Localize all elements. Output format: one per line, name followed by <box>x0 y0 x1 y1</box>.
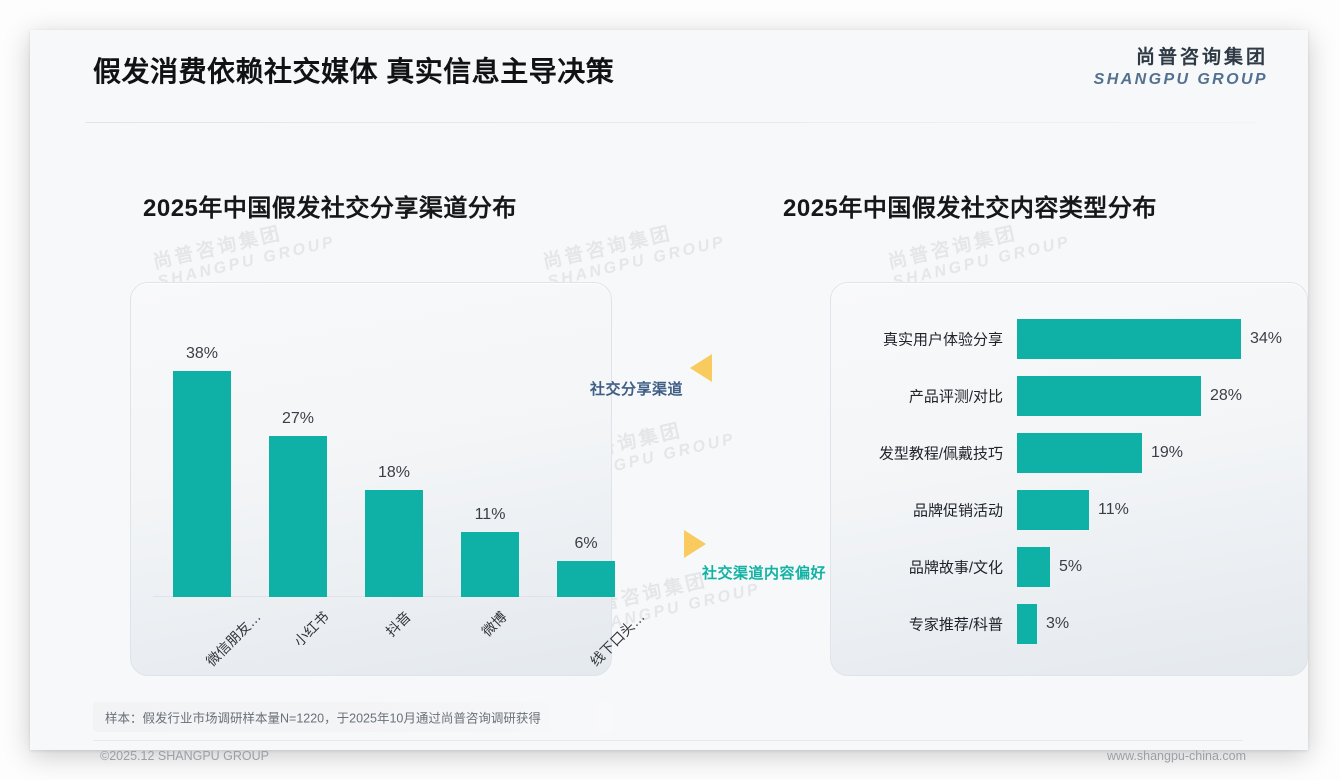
bar-value-label: 5% <box>1059 558 1082 576</box>
category-label: 抖音 <box>381 607 415 641</box>
bar[interactable] <box>1017 319 1241 359</box>
watermark: 尚普咨询集团 SHANGPU GROUP <box>540 207 728 292</box>
bar-value-label: 11% <box>475 506 506 524</box>
slide-root: 假发消费依赖社交媒体 真实信息主导决策 尚普咨询集团 SHANGPU GROUP… <box>0 0 1340 780</box>
bar[interactable] <box>557 561 615 597</box>
page-title: 假发消费依赖社交媒体 真实信息主导决策 <box>93 50 614 90</box>
left-chart-title: 2025年中国假发社交分享渠道分布 <box>143 188 517 223</box>
category-label-wrap: 抖音 <box>365 597 423 669</box>
bar-value-label: 27% <box>282 410 314 428</box>
category-label-wrap: 微博 <box>461 597 519 669</box>
category-label: 线下口头… <box>586 607 650 671</box>
bar[interactable] <box>1017 547 1050 587</box>
bar-value-label: 38% <box>186 345 218 363</box>
category-label-wrap: 微信朋友… <box>173 597 231 669</box>
bar-row: 产品评测/对比28% <box>831 376 1307 416</box>
category-label: 品牌促销活动 <box>913 500 1003 521</box>
footer-divider <box>93 740 1243 741</box>
bar-value-label: 11% <box>1098 501 1129 519</box>
bar-value-label: 28% <box>1210 387 1242 405</box>
right-chart-title: 2025年中国假发社交内容类型分布 <box>783 188 1157 223</box>
annotation-label: 社交分享渠道 <box>590 378 683 399</box>
triangle-right-icon <box>684 530 706 558</box>
brand-logo: 尚普咨询集团 SHANGPU GROUP <box>1094 46 1268 89</box>
bar-group: 27%小红书 <box>269 436 327 597</box>
category-label-wrap: 小红书 <box>269 597 327 669</box>
slide-header: 假发消费依赖社交媒体 真实信息主导决策 尚普咨询集团 SHANGPU GROUP <box>30 30 1308 122</box>
right-chart-card: 真实用户体验分享34%产品评测/对比28%发型教程/佩戴技巧19%品牌促销活动1… <box>830 282 1308 676</box>
bar[interactable] <box>365 490 423 597</box>
bar[interactable] <box>1017 490 1089 530</box>
bar-group: 11%微博 <box>461 532 519 597</box>
annotation-label: 社交渠道内容偏好 <box>702 562 826 583</box>
bar[interactable] <box>269 436 327 597</box>
bar-row: 品牌促销活动11% <box>831 490 1307 530</box>
horizontal-bar-chart: 真实用户体验分享34%产品评测/对比28%发型教程/佩戴技巧19%品牌促销活动1… <box>831 283 1307 675</box>
category-label: 微博 <box>477 607 511 641</box>
bar-value-label: 19% <box>1151 444 1183 462</box>
bar[interactable] <box>461 532 519 597</box>
watermark-cn-text: 尚普咨询集团 <box>540 207 724 274</box>
bar-group: 6%线下口头… <box>557 561 615 597</box>
category-label: 微信朋友… <box>202 607 266 671</box>
bar-value-label: 6% <box>574 535 597 553</box>
category-label: 品牌故事/文化 <box>909 557 1003 578</box>
category-label: 产品评测/对比 <box>909 386 1003 407</box>
footer-website[interactable]: www.shangpu-china.com <box>1107 749 1246 763</box>
bar-row: 真实用户体验分享34% <box>831 319 1307 359</box>
bar-row: 专家推荐/科普3% <box>831 604 1307 644</box>
bar[interactable] <box>1017 604 1037 644</box>
footer-copyright: ©2025.12 SHANGPU GROUP <box>100 749 269 763</box>
category-label: 真实用户体验分享 <box>883 329 1003 350</box>
bar[interactable] <box>1017 376 1201 416</box>
logo-english-text: SHANGPU GROUP <box>1094 70 1268 89</box>
bar-value-label: 18% <box>378 464 410 482</box>
bar-group: 38%微信朋友… <box>173 371 231 597</box>
category-label: 小红书 <box>289 607 333 651</box>
category-label: 专家推荐/科普 <box>909 614 1003 635</box>
logo-chinese-text: 尚普咨询集团 <box>1094 46 1268 70</box>
triangle-left-icon <box>690 354 712 382</box>
bar-row: 品牌故事/文化5% <box>831 547 1307 587</box>
left-chart-card: 38%微信朋友…27%小红书18%抖音11%微博6%线下口头… <box>130 282 612 676</box>
bar-value-label: 34% <box>1250 330 1282 348</box>
sample-note-text: 样本：假发行业市场调研样本量N=1220，于2025年10月通过尚普咨询调研获得 <box>105 708 541 727</box>
bar[interactable] <box>1017 433 1142 473</box>
category-label: 发型教程/佩戴技巧 <box>879 443 1003 464</box>
bar[interactable] <box>173 371 231 597</box>
bar-value-label: 3% <box>1046 615 1069 633</box>
slide-page: 假发消费依赖社交媒体 真实信息主导决策 尚普咨询集团 SHANGPU GROUP… <box>30 30 1308 750</box>
sample-note-band: 样本：假发行业市场调研样本量N=1220，于2025年10月通过尚普咨询调研获得 <box>93 702 613 732</box>
header-divider <box>85 122 1255 123</box>
vertical-bar-chart: 38%微信朋友…27%小红书18%抖音11%微博6%线下口头… <box>131 283 611 675</box>
bar-group: 18%抖音 <box>365 490 423 597</box>
category-label-wrap: 线下口头… <box>557 597 615 669</box>
bar-row: 发型教程/佩戴技巧19% <box>831 433 1307 473</box>
